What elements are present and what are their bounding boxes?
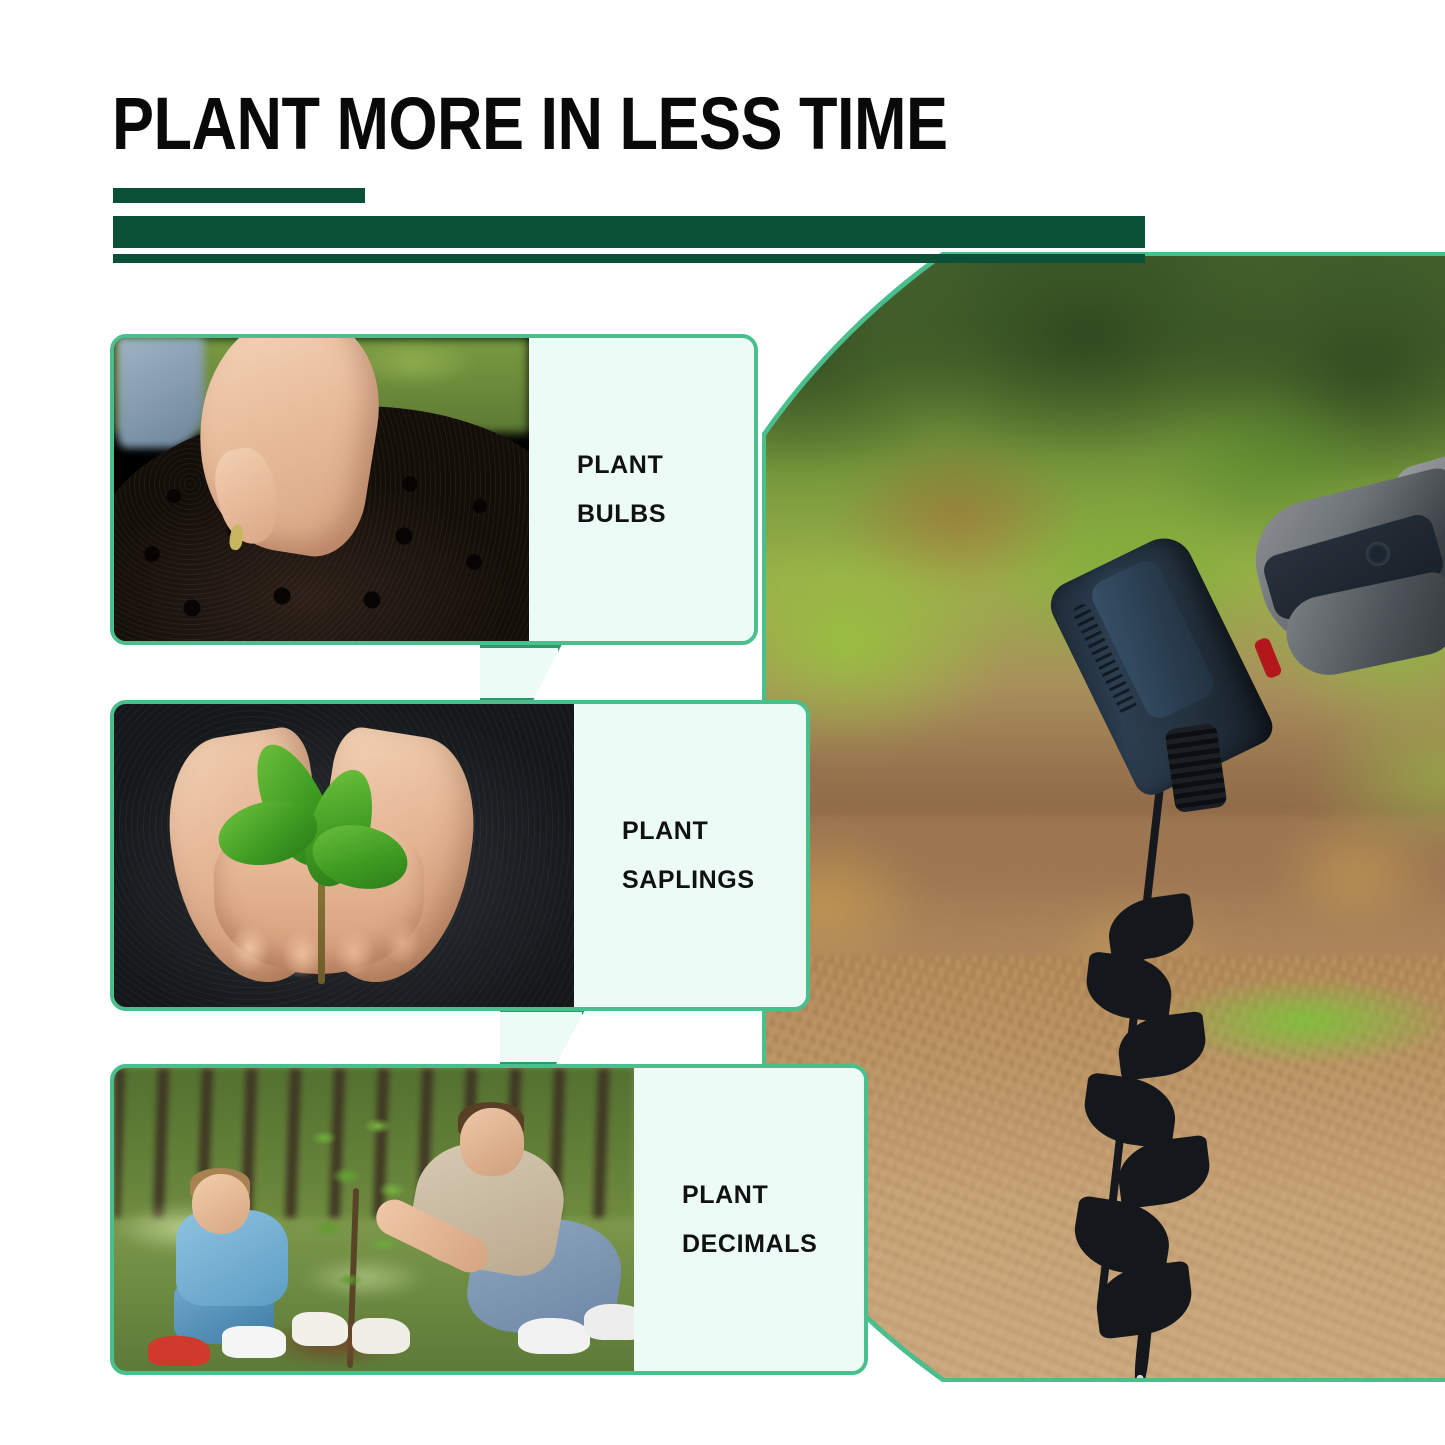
card-connector	[500, 1008, 586, 1066]
garden-glove	[292, 1312, 348, 1346]
feature-label-plant-decimals: PLANT DECIMALS	[634, 1068, 864, 1371]
card-connector	[480, 644, 562, 702]
feature-label-line1: PLANT	[682, 1171, 864, 1220]
thin-rule	[113, 254, 1145, 263]
man-shoe	[518, 1318, 590, 1354]
drill-grip-button-icon	[1366, 542, 1390, 566]
man-shoe	[584, 1304, 634, 1340]
child-head	[192, 1174, 250, 1234]
feature-label-plant-saplings: PLANT SAPLINGS	[574, 704, 806, 1007]
feature-label-line2: BULBS	[577, 490, 754, 539]
feature-photo-plant-saplings	[114, 704, 574, 1007]
thick-rule	[113, 216, 1145, 248]
feature-card-plant-saplings[interactable]: PLANT SAPLINGS	[110, 700, 810, 1011]
feature-card-plant-bulbs[interactable]: PLANT BULBS	[110, 334, 758, 645]
drill-shell	[1087, 556, 1219, 723]
denim-clothing	[118, 338, 204, 448]
feature-photo-plant-bulbs	[114, 338, 529, 641]
feature-card-plant-decimals[interactable]: PLANT DECIMALS	[110, 1064, 868, 1375]
feature-label-line1: PLANT	[577, 441, 754, 490]
feature-label-line1: PLANT	[622, 807, 806, 856]
page-title: PLANT MORE IN LESS TIME	[112, 78, 948, 170]
feature-label-plant-bulbs: PLANT BULBS	[529, 338, 754, 641]
garden-glove	[352, 1318, 410, 1354]
feature-label-line2: SAPLINGS	[622, 856, 806, 905]
feature-label-line2: DECIMALS	[682, 1220, 864, 1269]
child-shoe	[148, 1336, 210, 1366]
short-rule	[113, 188, 365, 203]
feature-photo-plant-decimals	[114, 1068, 634, 1371]
child-sock	[222, 1326, 286, 1358]
poster-canvas: PLANT MORE IN LESS TIME PLANT BULBS	[0, 0, 1445, 1445]
man-head	[460, 1108, 524, 1176]
